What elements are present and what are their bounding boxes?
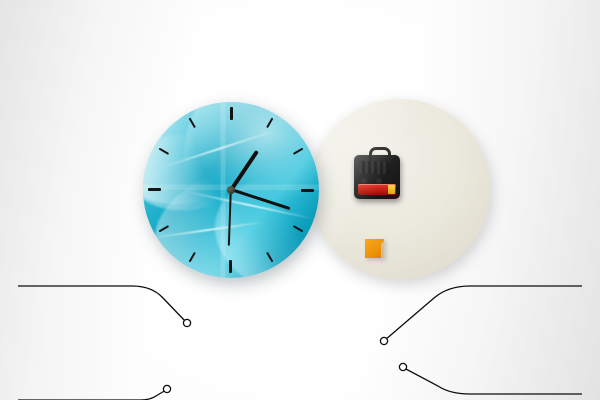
foam-spacer (365, 239, 384, 258)
connector-dot (399, 363, 406, 370)
hour-marker (143, 189, 231, 191)
mechanism-texture (359, 161, 389, 174)
hanger-loop-icon (369, 147, 391, 162)
connector-dot (163, 385, 170, 392)
hour-marker (230, 102, 232, 190)
infographic-canvas: VERRE TREMPÉ Résistant aux bris et aux é… (0, 0, 600, 400)
center-cap (227, 186, 235, 194)
clock-front-face (143, 102, 319, 278)
connector-dot (183, 319, 190, 326)
mechanism-screw (376, 178, 382, 184)
clock-back-side (310, 99, 490, 279)
connector-dot (380, 337, 387, 344)
clock-mechanism (354, 155, 400, 199)
hour-marker (231, 189, 319, 191)
mechanism-screw (361, 178, 367, 184)
battery (358, 184, 396, 195)
product-photo-group (143, 100, 473, 285)
